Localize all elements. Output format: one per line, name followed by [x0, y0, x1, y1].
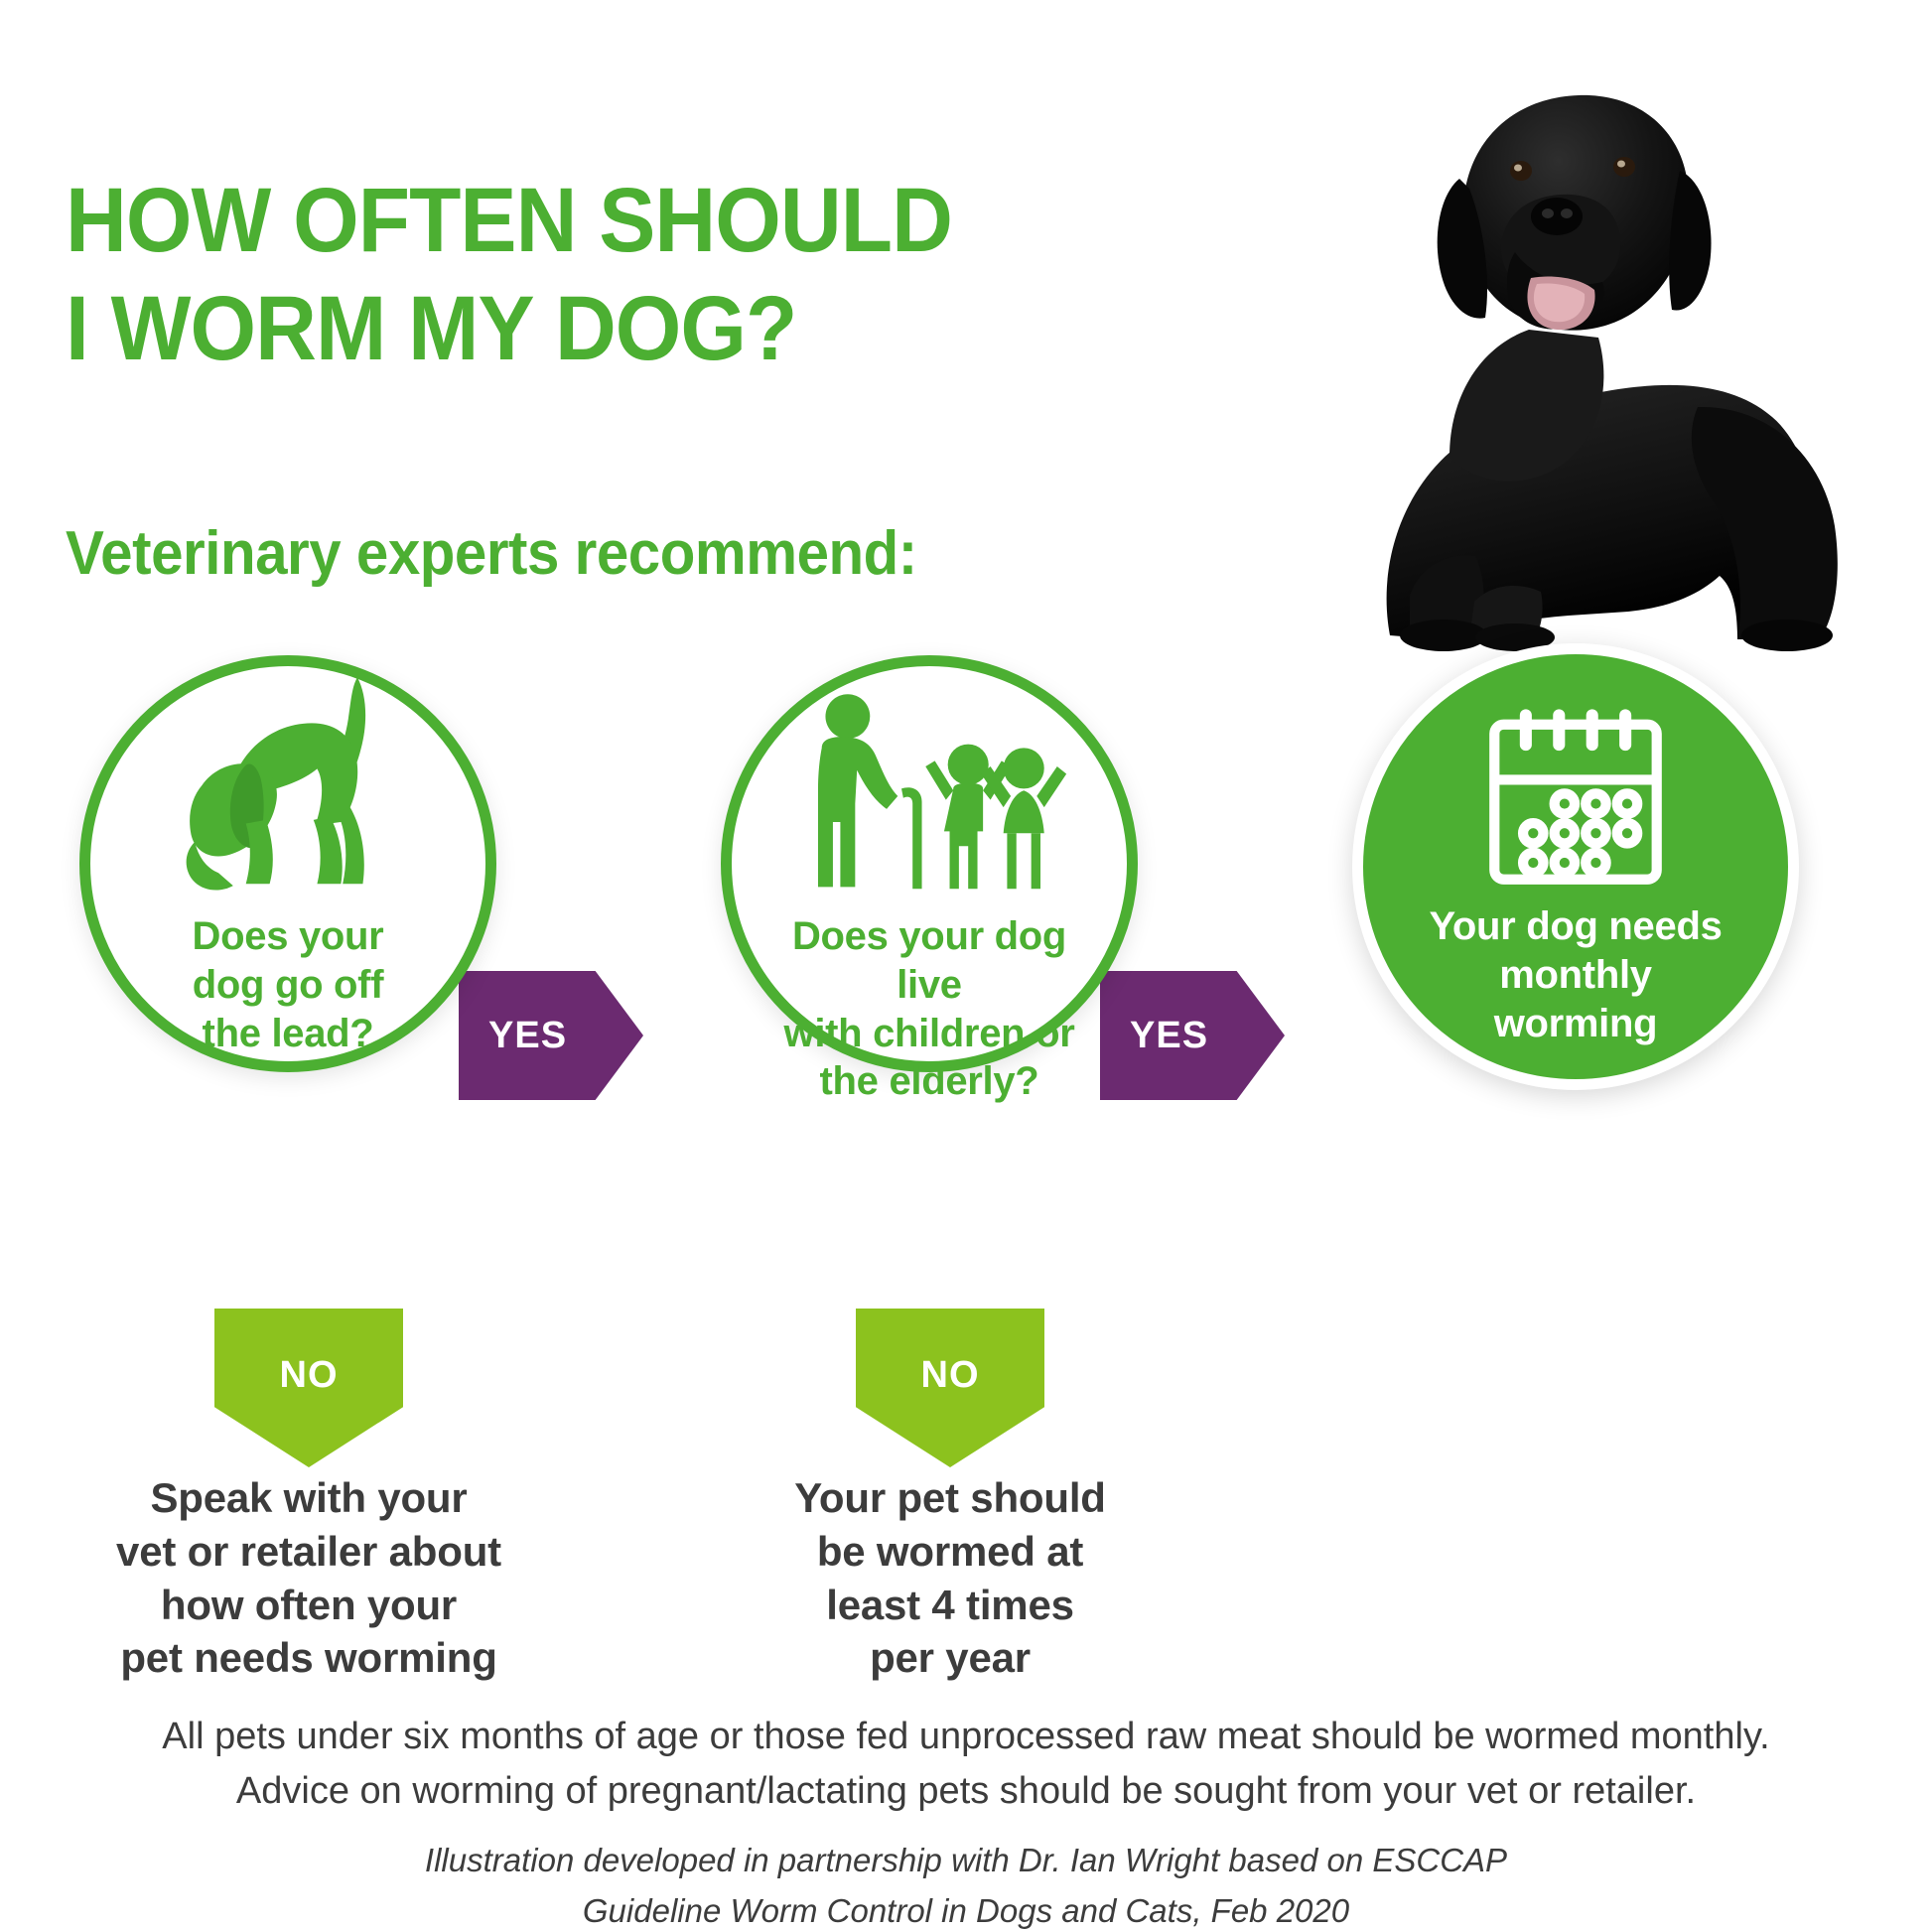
flow-node-question-children-elderly-label: Does your dog live with children or the … [732, 912, 1127, 1106]
no-arrow-2-label: NO [921, 1354, 980, 1397]
calendar-icon [1483, 700, 1668, 889]
no-arrow-1[interactable]: NO [214, 1309, 403, 1467]
flow-node-result-monthly-label: Your dog needs monthly worming [1403, 902, 1747, 1047]
elderly-and-children-icon [790, 700, 1068, 898]
flow-node-question-lead[interactable]: Does your dog go off the lead? [79, 655, 496, 1072]
flow-node-question-children-elderly[interactable]: Does your dog live with children or the … [721, 655, 1138, 1072]
footer-note: All pets under six months of age or thos… [0, 1710, 1932, 1819]
yes-arrow-2-label: YES [1130, 1015, 1208, 1057]
page-subtitle: Veterinary experts recommend: [66, 518, 917, 589]
yes-arrow-2[interactable]: YES [1100, 971, 1285, 1100]
flow-node-result-monthly[interactable]: Your dog needs monthly worming [1352, 643, 1799, 1090]
footer-credit: Illustration developed in partnership wi… [0, 1835, 1932, 1932]
no-arrow-2[interactable]: NO [856, 1309, 1044, 1467]
yes-arrow-1[interactable]: YES [459, 971, 643, 1100]
flow-node-question-lead-label: Does your dog go off the lead? [167, 912, 410, 1057]
black-labrador-photo [1271, 40, 1906, 675]
outcome-speak-with-vet: Speak with your vet or retailer about ho… [56, 1471, 562, 1685]
outcome-four-times: Your pet should be wormed at least 4 tim… [717, 1471, 1183, 1685]
infographic-root: HOW OFTEN SHOULD I WORM MY DOG? Veterina… [0, 0, 1932, 1932]
yes-arrow-1-label: YES [488, 1015, 567, 1057]
no-arrow-1-label: NO [280, 1354, 339, 1397]
dog-sniffing-icon [174, 700, 402, 898]
page-title: HOW OFTEN SHOULD I WORM MY DOG? [66, 167, 1173, 382]
